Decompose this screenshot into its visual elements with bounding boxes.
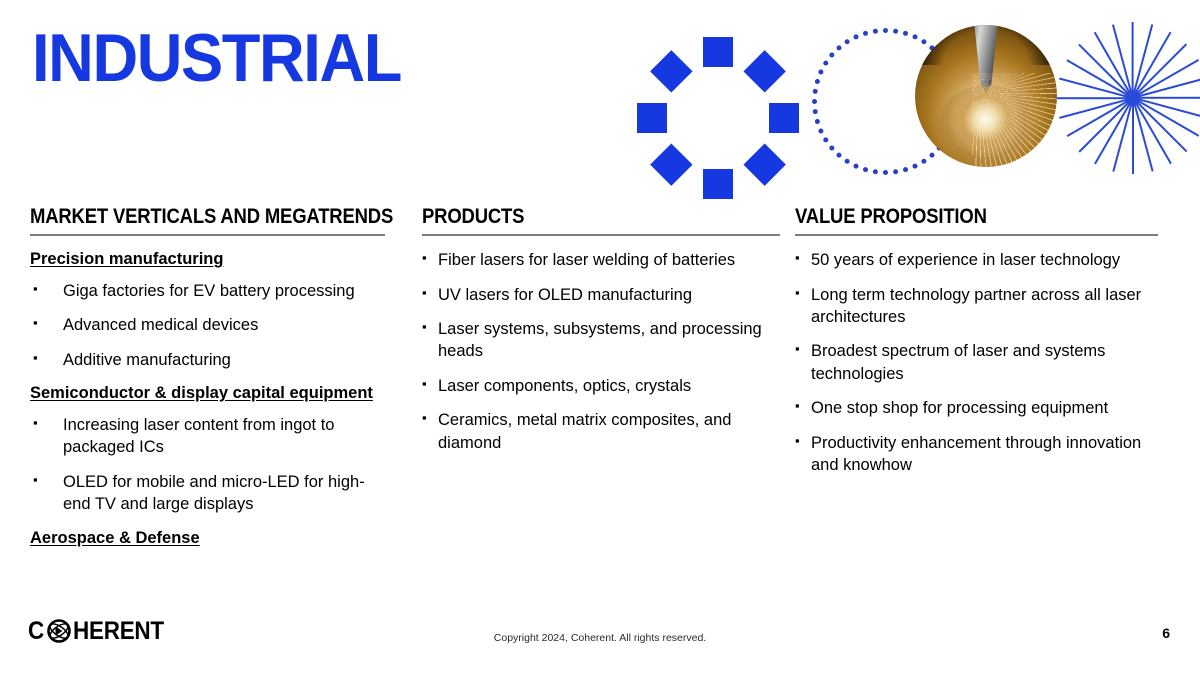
circle-dot <box>812 109 817 114</box>
subheading-semiconductor-display: Semiconductor & display capital equipmen… <box>30 383 390 405</box>
hero-graphics <box>610 10 1190 190</box>
list-item: Laser components, optics, crystals <box>422 375 782 397</box>
circle-dot <box>836 152 841 157</box>
list-item: One stop shop for processing equipment <box>795 397 1160 419</box>
column-heading: MARKET VERTICALS AND MEGATRENDS <box>30 205 347 228</box>
ring-square <box>743 50 785 92</box>
list-item: Ceramics, metal matrix composites, and d… <box>422 409 782 454</box>
circle-dot <box>823 60 828 65</box>
starburst-ray <box>1132 22 1134 98</box>
circle-dot <box>829 145 834 150</box>
circle-dot <box>893 169 898 174</box>
starburst-ray <box>1132 98 1134 174</box>
column-rule <box>795 234 1158 236</box>
page-title: INDUSTRIAL <box>32 24 401 92</box>
circle-dot <box>883 170 888 175</box>
column-heading: PRODUCTS <box>422 205 739 228</box>
circle-dot <box>814 119 819 124</box>
ring-square <box>703 37 733 67</box>
circle-dot <box>844 158 849 163</box>
circle-dot <box>812 99 817 104</box>
column-body: Fiber lasers for laser welding of batter… <box>422 249 782 454</box>
bullet-list-products: Fiber lasers for laser welding of batter… <box>422 249 782 454</box>
circle-dot <box>862 167 867 172</box>
starburst-icon <box>1062 18 1200 178</box>
ring-square <box>650 143 692 185</box>
column-rule <box>30 234 385 236</box>
subheading-precision-manufacturing: Precision manufacturing <box>30 249 390 271</box>
circle-dot <box>844 39 849 44</box>
circle-dot <box>814 78 819 83</box>
circle-dot <box>872 169 877 174</box>
list-item: Advanced medical devices <box>30 314 390 336</box>
ring-square <box>703 169 733 199</box>
photo-sparks <box>972 73 1057 167</box>
starburst-ray <box>1057 97 1133 99</box>
circle-dot <box>853 163 858 168</box>
circle-dot <box>903 30 908 35</box>
list-item: 50 years of experience in laser technolo… <box>795 249 1160 271</box>
starburst-ray <box>1133 97 1200 99</box>
page-number: 6 <box>1162 625 1170 641</box>
circle-dot <box>818 128 823 133</box>
circle-dot <box>818 69 823 74</box>
column-body: Precision manufacturing Giga factories f… <box>30 249 390 549</box>
ring-square <box>769 103 799 133</box>
circle-dot <box>903 167 908 172</box>
ring-square <box>650 50 692 92</box>
slide: INDUSTRIAL MARKET VERTICALS AND MEGATREN… <box>0 0 1200 675</box>
square-ring-icon <box>628 28 808 208</box>
column-rule <box>422 234 780 236</box>
list-item: Laser systems, subsystems, and processin… <box>422 318 782 363</box>
circle-dot <box>862 30 867 35</box>
list-item: Giga factories for EV battery processing <box>30 280 390 302</box>
list-item: Long term technology partner across all … <box>795 284 1160 329</box>
circle-dot <box>829 52 834 57</box>
circle-dot <box>853 34 858 39</box>
copyright-text: Copyright 2024, Coherent. All rights res… <box>0 632 1200 644</box>
list-item: UV lasers for OLED manufacturing <box>422 284 782 306</box>
laser-machining-photo <box>915 25 1057 167</box>
bullet-list-precision-manufacturing: Giga factories for EV battery processing… <box>30 280 390 371</box>
circle-dot <box>912 163 917 168</box>
circle-dot <box>812 88 817 93</box>
list-item: Broadest spectrum of laser and systems t… <box>795 340 1160 385</box>
bullet-list-value-proposition: 50 years of experience in laser technolo… <box>795 249 1160 477</box>
circle-dot <box>921 158 926 163</box>
bullet-list-semiconductor-display: Increasing laser content from ingot to p… <box>30 414 390 516</box>
subheading-aerospace-defense: Aerospace & Defense <box>30 528 390 550</box>
circle-dot <box>929 152 934 157</box>
column-heading: VALUE PROPOSITION <box>795 205 1116 228</box>
column-body: 50 years of experience in laser technolo… <box>795 249 1160 477</box>
column-market-verticals: MARKET VERTICALS AND MEGATRENDS Precisio… <box>30 205 390 558</box>
circle-dot <box>836 45 841 50</box>
column-value-proposition: VALUE PROPOSITION 50 years of experience… <box>795 205 1160 489</box>
list-item: Productivity enhancement through innovat… <box>795 432 1160 477</box>
ring-square <box>743 143 785 185</box>
circle-dot <box>872 28 877 33</box>
ring-square <box>637 103 667 133</box>
circle-dot <box>883 28 888 33</box>
list-item: OLED for mobile and micro-LED for high-e… <box>30 471 390 516</box>
column-products: PRODUCTS Fiber lasers for laser welding … <box>422 205 782 466</box>
list-item: Additive manufacturing <box>30 349 390 371</box>
circle-dot <box>893 28 898 33</box>
circle-dot <box>823 137 828 142</box>
list-item: Fiber lasers for laser welding of batter… <box>422 249 782 271</box>
list-item: Increasing laser content from ingot to p… <box>30 414 390 459</box>
